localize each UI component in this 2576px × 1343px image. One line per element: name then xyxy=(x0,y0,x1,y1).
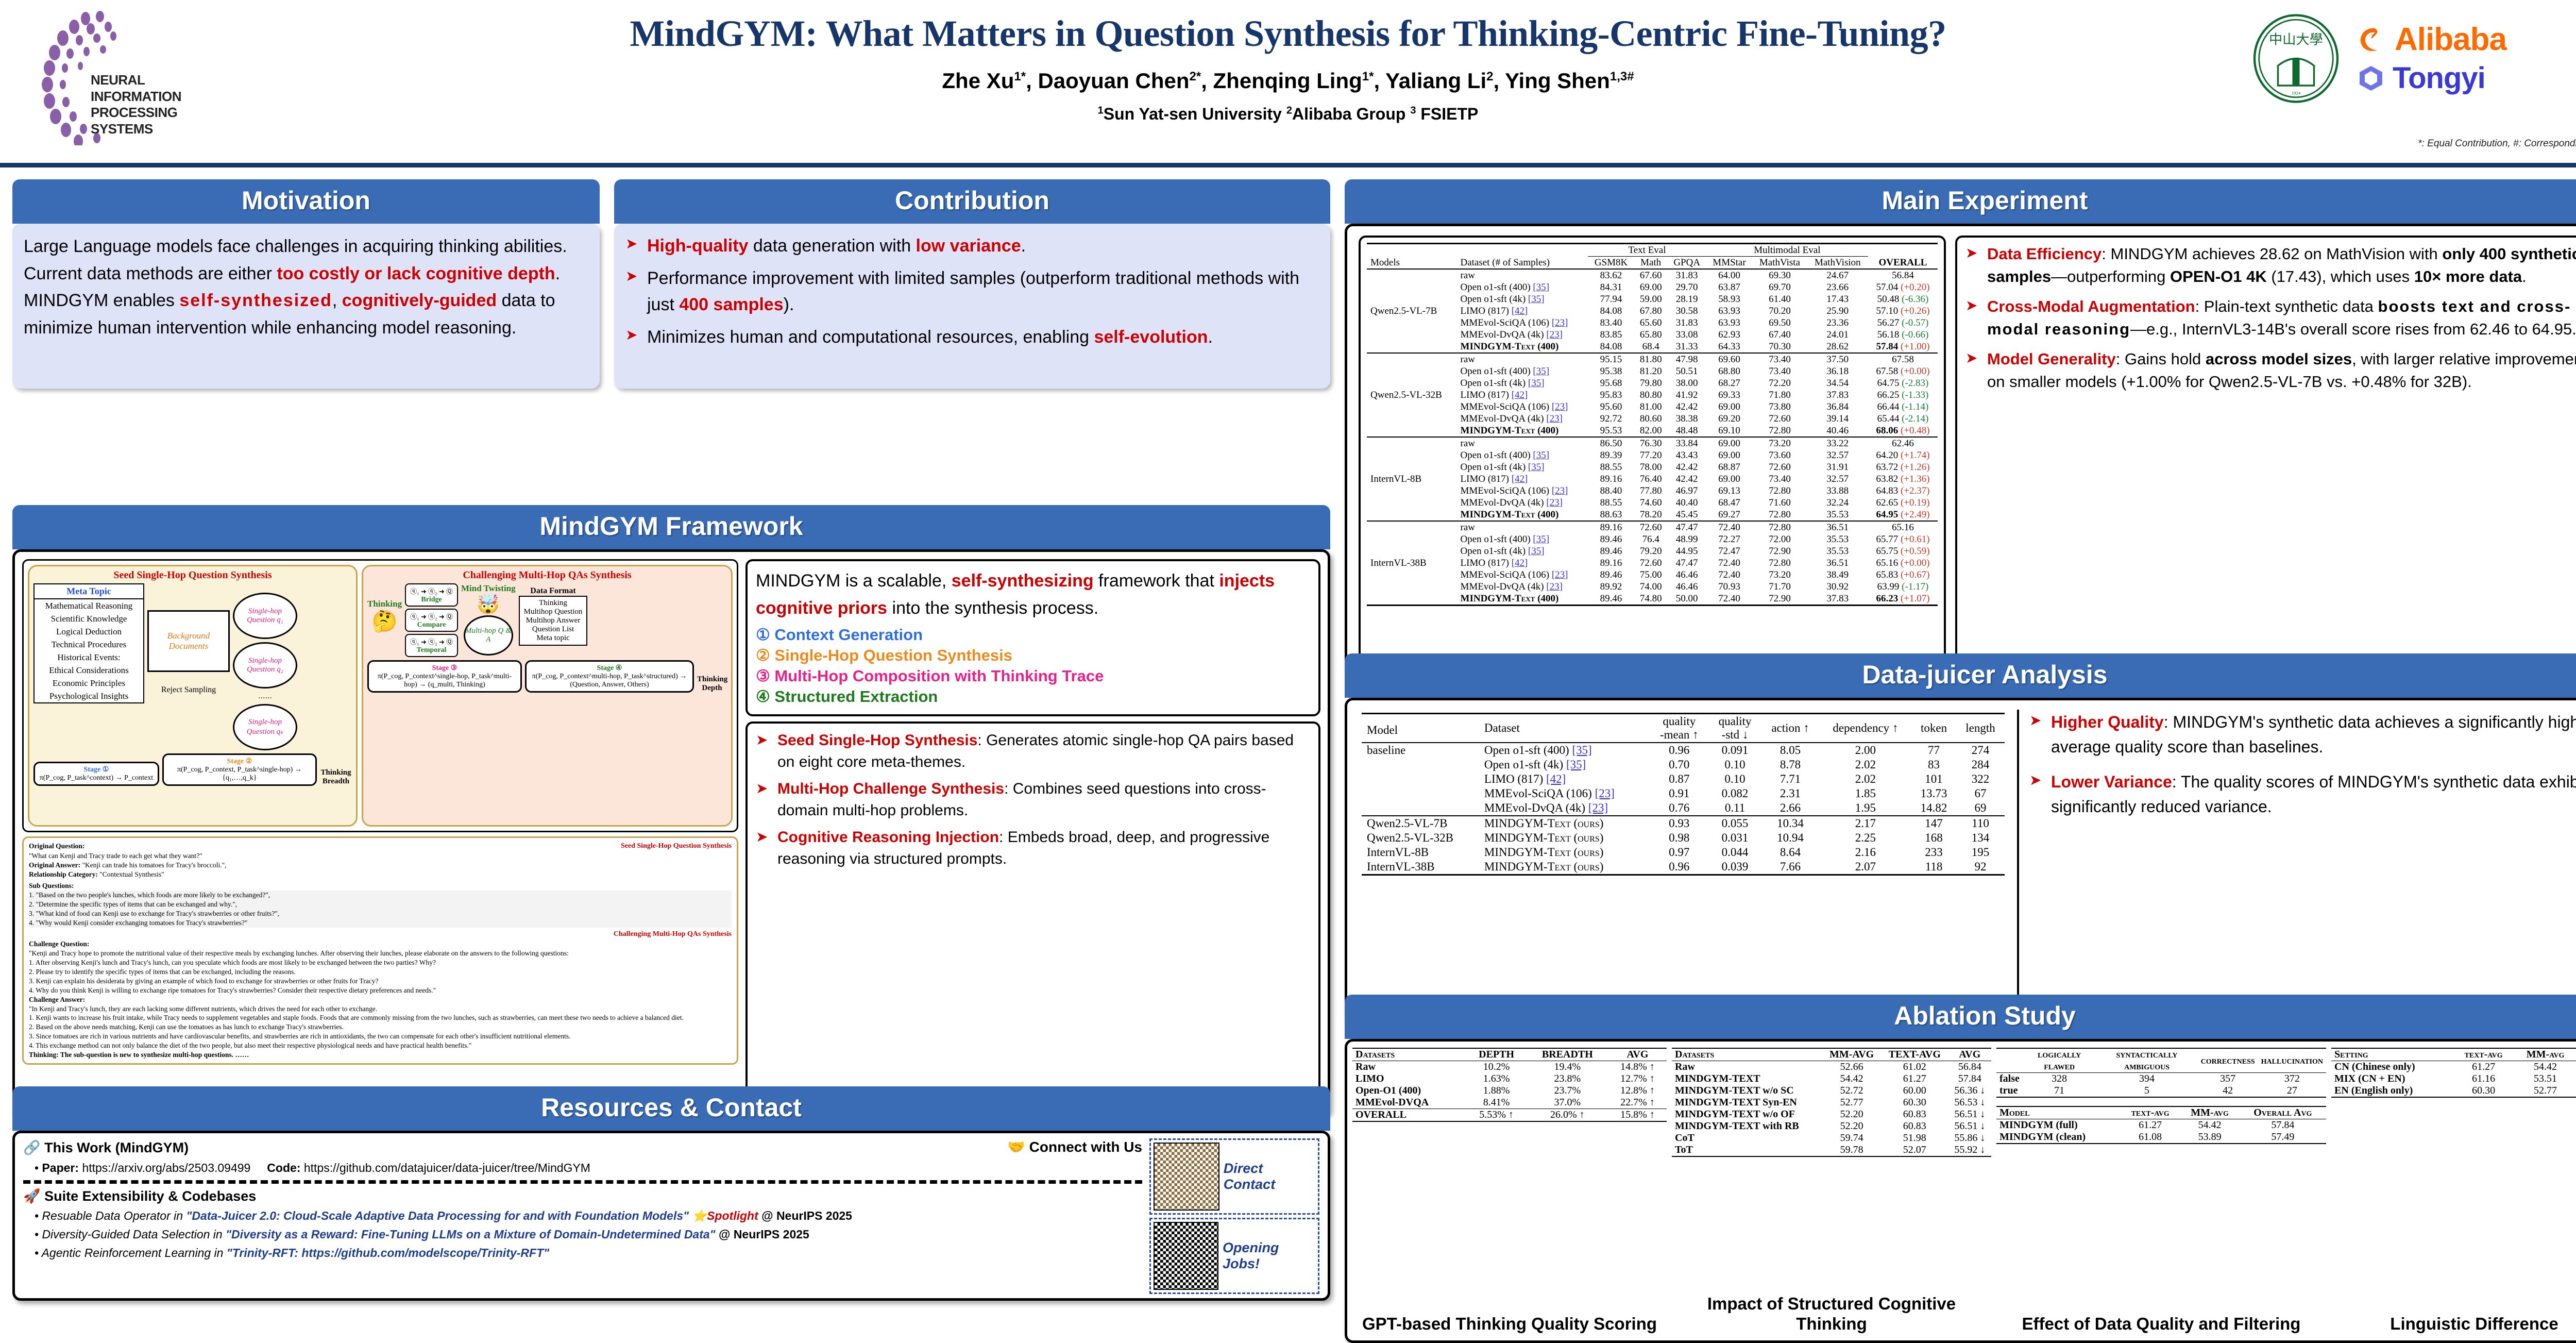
thinking-label: Thinking xyxy=(367,599,402,609)
list-item: 1. "Based on the two people's lunches, w… xyxy=(29,891,732,900)
list-item: ③ Multi-Hop Composition with Thinking Tr… xyxy=(756,667,1310,685)
list-item: Model Generality: Gains hold across mode… xyxy=(1965,348,2576,393)
data-juicer-findings: Higher Quality: MINDGYM's synthetic data… xyxy=(2017,710,2576,1011)
list-item: Lower Variance: The quality scores of MI… xyxy=(2029,769,2576,819)
list-item: Performance improvement with limited sam… xyxy=(625,265,1319,318)
example-orig-question-label: Original Question: xyxy=(29,842,84,850)
framework-stage-list: ① Context Generation② Single-Hop Questio… xyxy=(756,626,1310,706)
diagram-pane-right-title: Challenging Multi-Hop QAs Synthesis xyxy=(367,569,727,581)
data-format-title: Data Format xyxy=(530,586,575,596)
ablation-subsection-2: DatasetsMM-AVGTEXT-AVGAVGRaw52.6661.0256… xyxy=(1672,1048,1991,1334)
table-row: OVERALL5.53% ↑26.0% ↑15.8% ↑ xyxy=(1352,1109,1667,1122)
example-challenge-item-list: 1. After observing Kenji's lunch and Tra… xyxy=(29,958,732,995)
table-row: Open o1-sft (4k) [35]77.9459.0028.1958.9… xyxy=(1367,293,1938,305)
rocket-icon: 🚀 xyxy=(23,1188,41,1204)
panel-title-framework: MindGYM Framework xyxy=(12,505,1330,549)
connect-with-us-label: 🤝 Connect with Us xyxy=(1007,1138,1142,1155)
table-row: Open o1-sft (4k) [35]95.6879.8038.0068.2… xyxy=(1367,377,1938,389)
table-row: MMEvol-DvQA (4k) [23]92.7280.6038.3869.2… xyxy=(1367,413,1938,425)
diagram-pane-seed-single-hop: Seed Single-Hop Question Synthesis Meta … xyxy=(28,565,358,827)
mind-twisting-label: Mind Twisting xyxy=(461,583,516,594)
tongyi-mark-icon xyxy=(2355,64,2386,93)
framework-intro-text: MINDGYM is a scalable, self-synthesizing… xyxy=(756,567,1310,622)
example-sub-question-list: 1. "Based on the two people's lunches, w… xyxy=(29,891,732,928)
table-row: ToT59.7852.0755.92 ↓ xyxy=(1672,1144,1991,1156)
framework-bullet-list: Seed Single-Hop Synthesis: Generates ato… xyxy=(756,730,1310,870)
twist-mode-bridge: ⓠ₁ ➜ ⓠ₂ ➜ ⓆBridge xyxy=(405,583,458,607)
qr-code-column: Direct Contact Opening Jobs! xyxy=(1149,1138,1319,1293)
qr-label-jobs: Opening Jobs! xyxy=(1223,1240,1315,1272)
list-item: 4. Why do you think Kenji is willing to … xyxy=(29,986,732,995)
panel-title-motivation: Motivation xyxy=(12,179,600,224)
table-row: MINDGYM (full)61.2754.4257.84 xyxy=(1996,1119,2326,1132)
panel-contribution: Contribution High-quality data generatio… xyxy=(614,179,1330,389)
table-row: Open o1-sft (400) [35]89.4676.448.9972.2… xyxy=(1367,533,1938,545)
table-row: LIMO1.63%23.8%12.7% ↑ xyxy=(1352,1073,1667,1085)
ablation-table-structured-cognitive: DatasetsMM-AVGTEXT-AVGAVGRaw52.6661.0256… xyxy=(1672,1048,1991,1157)
table-row: Open o1-sft (400) [35]84.3169.0029.7063.… xyxy=(1367,281,1938,293)
table-row: EN (English only)60.3052.7756.50 xyxy=(2331,1085,2576,1097)
panel-motivation: Motivation Large Language models face ch… xyxy=(12,179,600,389)
table-row: MMEvol-SciQA (106) [23]83.4065.6031.8363… xyxy=(1367,317,1938,329)
table-row: MMEvol-SciQA (106) [23]0.910.0822.311.85… xyxy=(1362,786,2005,801)
paper-url[interactable]: https://arxiv.org/abs/2503.09499 xyxy=(82,1161,250,1174)
example-orig-answer: "Kenji can trade his tomatoes for Tracy'… xyxy=(82,861,227,869)
mind-twist-mode-list: ⓠ₁ ➜ ⓠ₂ ➜ ⓆBridgeⓠ₁ ➜ ⓠ₂ ➜ ⓆCompareⓠ₁ ➜ … xyxy=(405,583,458,657)
list-item: Multihop Question xyxy=(524,608,583,616)
example-answer-body: "In Kenji and Tracy's lunch, they are ea… xyxy=(29,1004,732,1051)
author-list: Zhe Xu1*, Daoyuan Chen2*, Zhenqing Ling1… xyxy=(361,69,2215,93)
panel-title-main-experiment: Main Experiment xyxy=(1345,179,2576,224)
table-row: true7154227 xyxy=(1996,1085,2326,1097)
thinking-depth-label: Thinking Depth xyxy=(697,675,727,693)
background-documents-box: Background Documents xyxy=(147,610,230,672)
stage-box-2: Stage ② π(P_cog, P_context, P_task^singl… xyxy=(162,753,317,786)
qr-opening-jobs[interactable]: Opening Jobs! xyxy=(1149,1218,1319,1294)
svg-text:中山大學: 中山大學 xyxy=(2269,32,2323,47)
list-item: Question List xyxy=(524,625,583,634)
table-row: Open o1-sft (4k) [35]0.700.108.782.02832… xyxy=(1362,758,2005,772)
list-item: Logical Deduction xyxy=(35,625,143,638)
neurips-label-line2: PROCESSING SYSTEMS xyxy=(91,105,210,137)
table-row: Open o1-sft (4k) [35]88.5578.0042.4268.8… xyxy=(1367,461,1938,473)
example-answer-label: Challenge Answer: xyxy=(29,996,85,1003)
thinking-breadth-label: Thinking Breadth xyxy=(320,768,352,786)
table-row: MINDGYM-TEXT54.4261.2757.84 xyxy=(1672,1073,1991,1085)
table-row: raw86.5076.3033.8469.0073.2033.2262.46 xyxy=(1367,437,1938,449)
alibaba-wordmark: Alibaba xyxy=(2395,21,2506,58)
list-item: Technical Procedures xyxy=(35,638,143,651)
single-hop-node: Single-hop Question qₖ xyxy=(233,704,297,750)
table-row: MMEvol-DvQA (4k) [23]89.9274.0046.4670.9… xyxy=(1367,581,1938,593)
list-item: Seed Single-Hop Synthesis: Generates ato… xyxy=(756,730,1310,773)
list-item: High-quality data generation with low va… xyxy=(625,233,1319,259)
tongyi-wordmark: Tongyi xyxy=(2393,61,2485,95)
example-relationship-label: Relationship Category: xyxy=(29,870,98,878)
example-seed-title: Seed Single-Hop Question Synthesis xyxy=(621,842,732,851)
list-item: Minimizes human and computational resour… xyxy=(625,324,1319,350)
list-item: ② Single-Hop Question Synthesis xyxy=(756,646,1310,665)
table-row: InternVL-8BMINDGYM-Text (ours)0.970.0448… xyxy=(1362,845,2005,860)
table-row: MINDGYM-Text (400)95.5382.0048.4869.1072… xyxy=(1367,425,1938,437)
resources-item-list: • Resuable Data Operator in "Data-Juicer… xyxy=(23,1209,1142,1260)
page-title: MindGYM: What Matters in Question Synthe… xyxy=(361,12,2215,55)
stage-box-1: Stage ① π(P_cog, P_task^context) → P_con… xyxy=(33,762,159,786)
table-row: MMEvol-SciQA (106) [23]95.6081.0042.4269… xyxy=(1367,401,1938,413)
list-item: Cross-Modal Augmentation: Plain-text syn… xyxy=(1965,295,2576,341)
resources-paper-line: • Paper: https://arxiv.org/abs/2503.0949… xyxy=(35,1161,1142,1175)
ablation-table-linguistic: Settingtext-avgMM-avgAvgCN (Chinese only… xyxy=(2331,1048,2576,1098)
table-row: raw83.6267.6031.8364.0069.3024.6756.84 xyxy=(1367,269,1938,281)
table-row: MMEvol-DvQA (4k) [23]88.5574.6040.4068.4… xyxy=(1367,497,1938,509)
single-hop-node: Single-hop Question q₂ xyxy=(233,642,297,689)
table-row: Qwen2.5-VL-7BMINDGYM-Text (ours)0.930.05… xyxy=(1362,816,2005,831)
reject-sampling-label: Reject Sampling xyxy=(161,685,216,695)
thinking-face-icon: 🤔 xyxy=(372,609,398,633)
alibaba-mark-icon xyxy=(2355,24,2388,55)
framework-intro-card: MINDGYM is a scalable, self-synthesizing… xyxy=(745,559,1320,716)
table-row: Open o1-sft (4k) [35]89.4679.2044.9572.4… xyxy=(1367,545,1938,557)
meta-topic-header: Meta Topic xyxy=(35,584,143,599)
table-row: LIMO (817) [42]0.870.107.712.02101322 xyxy=(1362,772,2005,786)
footnote-equal-contribution: *: Equal Contribution, #: Corresponding … xyxy=(2418,138,2576,149)
example-challenge: "Kenji and Tracy hope to promote the nut… xyxy=(29,949,732,958)
list-item: 2. "Determine the specific types of item… xyxy=(29,900,732,909)
framework-example-block: Original Question: Seed Single-Hop Quest… xyxy=(22,836,738,1065)
list-item: Data Efficiency: MINDGYM achieves 28.62 … xyxy=(1965,243,2576,288)
panel-mindgym-framework: MindGYM Framework Seed Single-Hop Questi… xyxy=(12,505,1330,1116)
neurips-label-line1: NEURAL INFORMATION xyxy=(91,72,210,105)
panel-title-ablation: Ablation Study xyxy=(1345,995,2576,1039)
table-row: raw95.1581.8047.9869.6073.4037.5067.58 xyxy=(1367,353,1938,365)
list-item: Multihop Answer xyxy=(524,616,583,625)
single-hop-node: Single-hop Question q₁ xyxy=(233,593,297,639)
panel-title-contribution: Contribution xyxy=(614,179,1330,224)
data-format-box: ThinkingMultihop QuestionMultihop Answer… xyxy=(519,596,588,646)
list-item: Ethical Considerations xyxy=(35,664,143,677)
panel-ablation-study: Ablation Study DatasetsDEPTHBREADTHAVGRa… xyxy=(1345,995,2576,1343)
panel-data-juicer-analysis: Data-juicer Analysis ModelDatasetquality… xyxy=(1345,653,2576,1022)
example-multi-title: Challenging Multi-Hop QAs Synthesis xyxy=(29,930,732,939)
table-row: InternVL-38BLIMO (817) [42]89.1672.6047.… xyxy=(1367,557,1938,569)
table-row: MMEvol-SciQA (106) [23]88.4077.8046.9769… xyxy=(1367,485,1938,497)
ablation-caption-4: Linguistic Difference xyxy=(2331,1314,2576,1334)
example-thinking-final: Thinking: The sub-question is new to syn… xyxy=(29,1050,732,1060)
list-item: • Diversity-Guided Data Selection in "Di… xyxy=(35,1228,1142,1241)
table-row: MINDGYM-Text (400)89.4674.8050.0072.4072… xyxy=(1367,593,1938,606)
header-divider xyxy=(0,163,2576,167)
ablation-caption-2: Impact of Structured Cognitive Thinking xyxy=(1672,1294,1991,1334)
table-row: MIX (CN + EN)61.1653.5157.34 xyxy=(2331,1073,2576,1085)
table-row: Qwen2.5-VL-32BLIMO (817) [42]95.8380.804… xyxy=(1367,389,1938,401)
table-row: InternVL-8BLIMO (817) [42]89.1676.4042.4… xyxy=(1367,473,1938,485)
stage-box-3: Stage ③ π(P_cog, P_context^single-hop, P… xyxy=(367,660,522,693)
list-item: ④ Structured Extraction xyxy=(756,687,1310,706)
table-row: MINDGYM-TEXT with RB52.2060.8356.51 ↓ xyxy=(1672,1120,1991,1132)
poster-header: NEURAL INFORMATION PROCESSING SYSTEMS Mi… xyxy=(0,0,2576,167)
table-row: raw89.1672.6047.4772.4072.8036.5165.16 xyxy=(1367,521,1938,533)
link-icon: 🔗 xyxy=(23,1140,41,1155)
list-item: ① Context Generation xyxy=(756,626,1310,644)
mind-blown-icon: 🤯 xyxy=(477,594,500,615)
qr-direct-contact[interactable]: Direct Contact xyxy=(1149,1138,1319,1215)
table-row: Open o1-sft (400) [35]89.3977.2043.4369.… xyxy=(1367,449,1938,461)
table-row: false328394357372 xyxy=(1996,1073,2326,1085)
stage-box-4: Stage ④ π(P_cog, P_context^multi-hop, P_… xyxy=(525,660,694,693)
list-item: Thinking xyxy=(524,599,583,608)
panel-title-resources: Resources & Contact xyxy=(12,1086,1330,1131)
table-row: Qwen2.5-VL-7BLIMO (817) [42]84.0867.8030… xyxy=(1367,305,1938,317)
table-row: Open o1-sft (400) [35]95.3881.2050.5168.… xyxy=(1367,365,1938,377)
list-item: Higher Quality: MINDGYM's synthetic data… xyxy=(2029,710,2576,759)
svg-text:1924: 1924 xyxy=(2292,90,2301,95)
table-row: MMEvol-DVQA8.41%37.0%22.7% ↑ xyxy=(1352,1097,1667,1109)
table-row: baselineOpen o1-sft (400) [35]0.960.0918… xyxy=(1362,743,2005,758)
ablation-table-quality-counts: logically flawedsyntactically ambiguousc… xyxy=(1996,1048,2326,1098)
list-item: Economic Principles xyxy=(35,677,143,690)
list-item: Multi-Hop Challenge Synthesis: Combines … xyxy=(756,778,1310,821)
data-juicer-table: ModelDatasetquality -mean ↑quality -std … xyxy=(1362,713,2005,877)
example-orig-answer-label: Original Answer: xyxy=(29,861,80,869)
example-challenge-label: Challenge Question: xyxy=(29,940,89,948)
table-row: Open-O1 (400)1.88%23.7%12.8% ↑ xyxy=(1352,1085,1667,1097)
twist-mode-temporal: ⓠ₁ ➜ ⓠ₂ ➜ ⓆTemporal xyxy=(405,634,458,657)
ablation-table-thinking-quality: DatasetsDEPTHBREADTHAVGRaw10.2%19.4%14.8… xyxy=(1352,1048,1667,1122)
sun-yat-sen-university-seal-icon: 中山大學 1924 xyxy=(2251,13,2341,104)
table-row: MMEvol-SciQA (106) [23]89.4675.0046.4672… xyxy=(1367,569,1938,581)
meta-topic-box: Meta Topic Mathematical ReasoningScienti… xyxy=(33,583,144,703)
list-item: Historical Events: xyxy=(35,651,143,664)
table-row: Raw10.2%19.4%14.8% ↑ xyxy=(1352,1061,1667,1073)
table-row: MMEvol-DvQA (4k) [23]0.760.112.661.9514.… xyxy=(1362,801,2005,816)
list-item: Meta topic xyxy=(524,634,583,643)
ablation-caption-1: GPT-based Thinking Quality Scoring xyxy=(1352,1314,1667,1334)
qr-label-contact: Direct Contact xyxy=(1224,1161,1315,1193)
code-url[interactable]: https://github.com/datajuicer/data-juice… xyxy=(304,1161,590,1174)
qr-code-image-jobs xyxy=(1154,1222,1218,1290)
resources-divider xyxy=(23,1180,1142,1184)
alibaba-logo: Alibaba xyxy=(2355,21,2506,58)
list-item: Psychological Insights xyxy=(35,690,143,702)
example-relationship: "Contextual Synthesis" xyxy=(99,870,164,878)
list-item: 4. "Why would Kenji consider exchanging … xyxy=(29,918,732,928)
list-item: Cognitive Reasoning Injection: Embeds br… xyxy=(756,827,1310,870)
star-icon: ⭐ xyxy=(692,1209,707,1222)
neurips-logo: NEURAL INFORMATION PROCESSING SYSTEMS xyxy=(25,6,210,145)
panel-title-data-juicer: Data-juicer Analysis xyxy=(1345,653,2576,698)
list-item: 3. Kenji can explain his desiderata by g… xyxy=(29,977,732,986)
ablation-table-filtering: Modeltext-avgMM-avgOverall AvgMINDGYM (f… xyxy=(1996,1106,2326,1144)
list-item: 3. "What kind of food can Kenji use to e… xyxy=(29,909,732,918)
diagram-pane-left-title: Seed Single-Hop Question Synthesis xyxy=(33,569,352,581)
table-row: Qwen2.5-VL-32BMINDGYM-Text (ours)0.980.0… xyxy=(1362,831,2005,845)
main-experiment-bullet-list: Data Efficiency: MINDGYM achieves 28.62 … xyxy=(1965,243,2576,393)
data-juicer-table-container: ModelDatasetquality -mean ↑quality -std … xyxy=(1359,710,2008,1011)
ablation-subsection-1: DatasetsDEPTHBREADTHAVGRaw10.2%19.4%14.8… xyxy=(1352,1048,1667,1334)
contribution-bullet-list: High-quality data generation with low va… xyxy=(625,233,1319,350)
table-row: MINDGYM-Text (400)88.6378.2045.4569.2772… xyxy=(1367,509,1938,521)
panel-main-experiment: Main Experiment Text EvalMultimodal Eval… xyxy=(1345,179,2576,672)
list-item: Mathematical Reasoning xyxy=(35,599,143,612)
handshake-icon: 🤝 xyxy=(1007,1139,1025,1155)
list-item: • Resuable Data Operator in "Data-Juicer… xyxy=(35,1209,1142,1223)
tongyi-logo: Tongyi xyxy=(2355,61,2506,95)
main-experiment-findings: Data Efficiency: MINDGYM achieves 28.62 … xyxy=(1955,236,2576,660)
resources-heading-this-work: 🔗 This Work (MindGYM) xyxy=(23,1139,189,1156)
resources-heading-suite: 🚀 Suite Extensibility & Codebases xyxy=(23,1188,1142,1204)
table-row: MINDGYM-Text (400)84.0868.431.3364.3370.… xyxy=(1367,341,1938,353)
table-row: CN (Chinese only)61.2754.4257.84 xyxy=(2331,1061,2576,1073)
list-item: • Agentic Reinforcement Learning in "Tri… xyxy=(35,1246,1142,1260)
multihop-qa-node: Multi-hop Q & A xyxy=(464,615,513,656)
list-item: 1. After observing Kenji's lunch and Tra… xyxy=(29,958,732,967)
table-row: CoT59.7451.9855.86 ↓ xyxy=(1672,1132,1991,1144)
title-block: MindGYM: What Matters in Question Synthe… xyxy=(361,12,2215,124)
example-sub-label: Sub Questions: xyxy=(29,882,74,889)
table-row: InternVL-38BMINDGYM-Text (ours)0.960.039… xyxy=(1362,860,2005,875)
panel-resources-contact: Resources & Contact 🔗 This Work (MindGYM… xyxy=(12,1086,1330,1301)
table-row: MINDGYM-TEXT w/o SC52.7260.0056.36 ↓ xyxy=(1672,1085,1991,1097)
data-juicer-bullet-list: Higher Quality: MINDGYM's synthetic data… xyxy=(2029,710,2576,819)
table-row: MINDGYM (clean)61.0853.8957.49 xyxy=(1996,1131,2326,1144)
ablation-subsection-3: logically flawedsyntactically ambiguousc… xyxy=(1996,1048,2326,1334)
main-experiment-table-container: Text EvalMultimodal EvalModelsDataset (#… xyxy=(1359,236,1946,660)
table-row: MINDGYM-TEXT Syn-EN52.7760.3056.53 ↓ xyxy=(1672,1097,1991,1109)
diagram-pane-multi-hop: Challenging Multi-Hop QAs Synthesis Thin… xyxy=(362,565,733,827)
single-hop-node-list: Single-hop Question q₁Single-hop Questio… xyxy=(233,583,297,750)
table-row: MINDGYM-TEXT w/o OF52.2060.8356.51 ↓ xyxy=(1672,1109,1991,1120)
motivation-text: Large Language models face challenges in… xyxy=(24,233,588,342)
qr-code-image-contact xyxy=(1154,1143,1219,1211)
ablation-caption-3: Effect of Data Quality and Filtering xyxy=(1996,1314,2326,1334)
twist-mode-compare: ⓠ₁ ➜ ⓠ₂ ➜ ⓆCompare xyxy=(405,609,458,632)
table-row: Raw52.6661.0256.84 xyxy=(1672,1061,1991,1073)
ablation-subsection-4: Settingtext-avgMM-avgAvgCN (Chinese only… xyxy=(2331,1048,2576,1334)
list-item: Scientific Knowledge xyxy=(35,612,143,625)
framework-diagram: Seed Single-Hop Question Synthesis Meta … xyxy=(22,559,738,832)
institution-logos: 中山大學 1924 Alibaba Tongyi xyxy=(2251,4,2576,112)
affiliation-list: 1Sun Yat-sen University 2Alibaba Group 3… xyxy=(361,105,2215,124)
example-orig-question: "What can Kenji and Tracy trade to each … xyxy=(29,851,732,861)
framework-bullets-card: Seed Single-Hop Synthesis: Generates ato… xyxy=(745,721,1320,1106)
list-item: 2. Please try to identify the specific t… xyxy=(29,967,732,977)
main-experiment-table: Text EvalMultimodal EvalModelsDataset (#… xyxy=(1367,243,1938,607)
table-row: MMEvol-DvQA (4k) [23]83.8565.8033.0862.9… xyxy=(1367,329,1938,341)
